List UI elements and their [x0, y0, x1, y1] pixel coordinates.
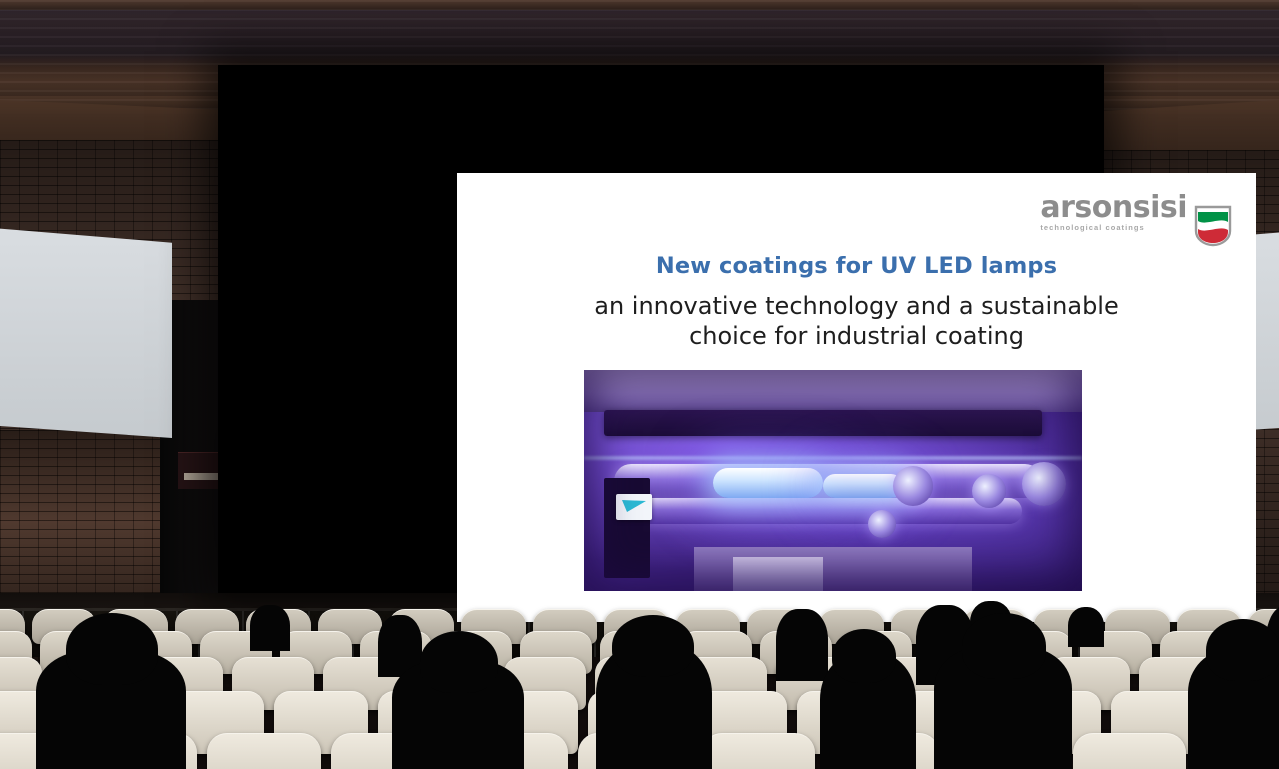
- audience-silhouette: [962, 613, 1046, 679]
- auditorium-seat: [1073, 733, 1187, 769]
- side-projection-screen-left: [0, 228, 172, 438]
- slide-subtitle-line2: choice for industrial coating: [689, 322, 1024, 350]
- main-projection-screen[interactable]: arsonsisi technological coatings New coa…: [218, 65, 1104, 593]
- audience-silhouette: [1206, 619, 1279, 681]
- arsonsisi-logo: arsonsisi technological coatings: [1040, 193, 1232, 247]
- audience-silhouette: [250, 605, 290, 651]
- presentation-slide[interactable]: arsonsisi technological coatings New coa…: [457, 173, 1256, 622]
- italian-flag-shield-icon: [1194, 205, 1232, 247]
- logo-tagline: technological coatings: [1040, 223, 1144, 233]
- audience-seating: [0, 594, 1279, 769]
- auditorium-seat: [207, 733, 321, 769]
- audience-silhouette: [612, 615, 694, 677]
- slide-subtitle-line1: an innovative technology and a sustainab…: [594, 292, 1119, 320]
- audience-silhouette: [420, 631, 498, 693]
- ceiling-beam: [0, 0, 1279, 10]
- audience-silhouette: [1068, 607, 1104, 647]
- uv-led-coating-machine-photo: [584, 370, 1082, 591]
- slide-title: New coatings for UV LED lamps: [457, 253, 1256, 279]
- auditorium-scene: arsonsisi technological coatings New coa…: [0, 0, 1279, 769]
- auditorium-seat: [702, 733, 816, 769]
- logo-wordmark: arsonsisi: [1040, 193, 1187, 222]
- audience-silhouette: [776, 609, 828, 681]
- slide-subtitle: an innovative technology and a sustainab…: [517, 291, 1196, 351]
- audience-silhouette: [66, 613, 158, 685]
- audience-silhouette: [832, 629, 896, 683]
